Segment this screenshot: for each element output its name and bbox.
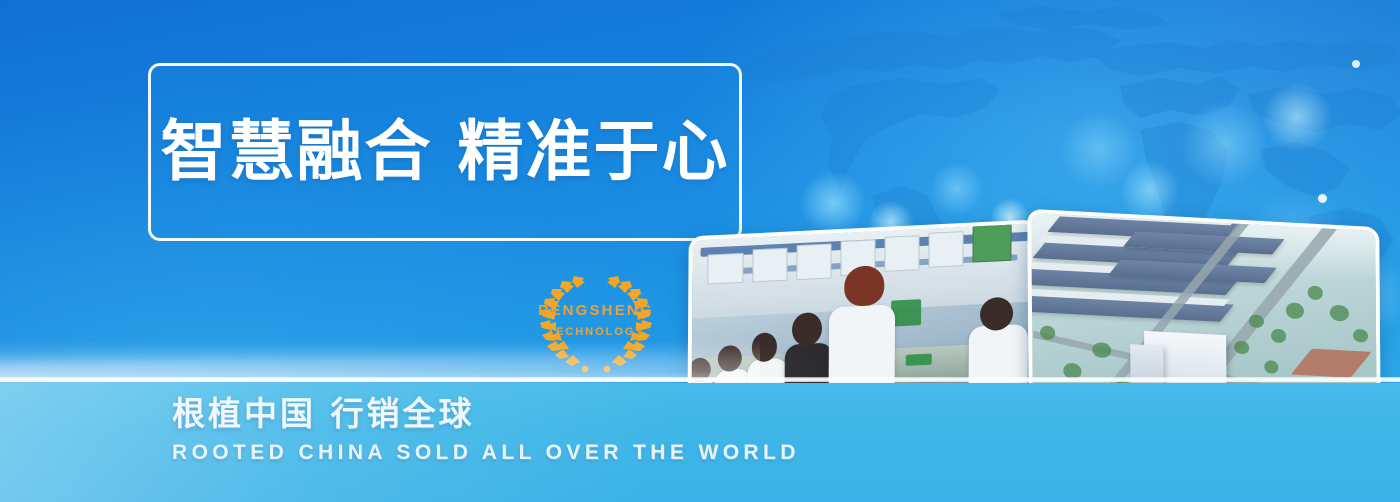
promo-banner: 智慧融合 精准于心 <box>0 0 1400 502</box>
divider-line <box>0 377 1400 382</box>
divider-soft-glow <box>0 340 760 382</box>
slogan-chinese: 根植中国 行销全球 <box>172 396 800 432</box>
logo-name: PENGSHENG <box>528 302 664 319</box>
slogan-english: ROOTED CHINA SOLD ALL OVER THE WORLD <box>172 441 800 465</box>
headline-frame: 智慧融合 精准于心 <box>148 63 742 241</box>
slogan-block: 根植中国 行销全球 ROOTED CHINA SOLD ALL OVER THE… <box>172 396 800 465</box>
page-title: 智慧融合 精准于心 <box>161 119 730 185</box>
logo-subtitle: TECHNOLOGY <box>528 326 664 338</box>
